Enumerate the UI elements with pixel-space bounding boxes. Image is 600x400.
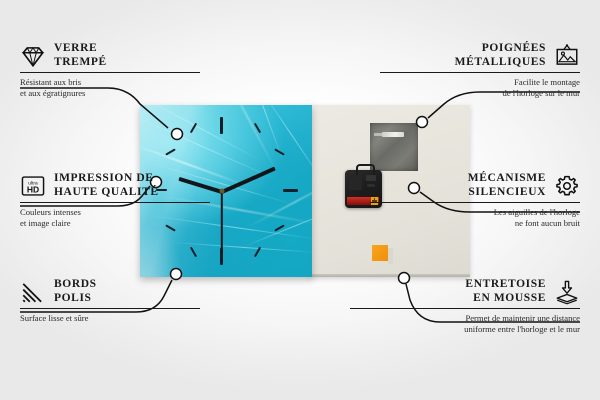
callout-poignees-metalliques: POIGNÉES MÉTALLIQUES Facilite le montage…	[380, 42, 580, 99]
foam-spacer-shadow	[388, 248, 393, 264]
callout-impression-haute-qualite: ultra HD IMPRESSION DE HAUTE QUALITÉ Cou…	[20, 172, 210, 229]
callout-sub-line2: et aux égratignures	[20, 88, 200, 99]
ultra-hd-icon: ultra HD	[20, 173, 46, 199]
second-hand	[221, 192, 223, 254]
callout-sub-line1: Résistant aux bris	[20, 77, 200, 88]
callout-bords-polis: BORDS POLIS Surface lisse et sûre	[20, 278, 200, 324]
callout-mecanisme-silencieux: MÉCANISME SILENCIEUX Les aiguilles de l'…	[370, 172, 580, 229]
callout-sub-line1: Surface lisse et sûre	[20, 313, 200, 324]
callout-rule	[370, 202, 580, 203]
callout-rule	[20, 202, 210, 203]
callout-title: POIGNÉES MÉTALLIQUES	[455, 42, 546, 69]
callout-sub-line2: de l'horloge sur le mur	[380, 88, 580, 99]
picture-frame-hanger-icon	[554, 43, 580, 69]
callout-sub-line2: ne font aucun bruit	[370, 218, 580, 229]
callout-sub-line1: Facilite le montage	[380, 77, 580, 88]
callout-sub-line1: Couleurs intenses	[20, 207, 210, 218]
callout-entretoise-en-mousse: ENTRETOISE EN MOUSSE Permet de maintenir…	[350, 278, 580, 335]
callout-title: VERRE TREMPÉ	[54, 42, 107, 69]
callout-header: VERRE TREMPÉ	[20, 42, 200, 69]
callout-header: BORDS POLIS	[20, 278, 200, 305]
callout-rule	[20, 72, 200, 73]
callout-rule	[350, 308, 580, 309]
hanger-slot	[382, 132, 404, 137]
callout-title: MÉCANISME SILENCIEUX	[468, 172, 546, 199]
polished-edges-icon	[20, 279, 46, 305]
callout-sub-line1: Permet de maintenir une distance	[350, 313, 580, 324]
foam-spacer-icon	[554, 279, 580, 305]
infographic-stage: VERRE TREMPÉ Résistant aux bris et aux é…	[0, 0, 600, 400]
callout-title: BORDS POLIS	[54, 278, 97, 305]
movement-detail	[349, 176, 362, 190]
metal-hanger-plate	[370, 123, 418, 171]
callout-rule	[20, 308, 200, 309]
callout-title: IMPRESSION DE HAUTE QUALITÉ	[54, 172, 159, 199]
callout-rule	[380, 72, 580, 73]
hands-center-cap	[220, 189, 225, 194]
callout-title: ENTRETOISE EN MOUSSE	[465, 278, 546, 305]
callout-header: POIGNÉES MÉTALLIQUES	[380, 42, 580, 69]
callout-header: MÉCANISME SILENCIEUX	[370, 172, 580, 199]
callout-header: ultra HD IMPRESSION DE HAUTE QUALITÉ	[20, 172, 210, 199]
callout-verre-trempe: VERRE TREMPÉ Résistant aux bris et aux é…	[20, 42, 200, 99]
callout-sub-line2: et image claire	[20, 218, 210, 229]
diamond-icon	[20, 43, 46, 69]
foam-spacer	[372, 245, 388, 261]
callout-sub-line2: uniforme entre l'horloge et le mur	[350, 324, 580, 335]
callout-header: ENTRETOISE EN MOUSSE	[350, 278, 580, 305]
callout-sub-line1: Les aiguilles de l'horloge	[370, 207, 580, 218]
svg-text:HD: HD	[27, 184, 39, 194]
gear-icon	[554, 173, 580, 199]
